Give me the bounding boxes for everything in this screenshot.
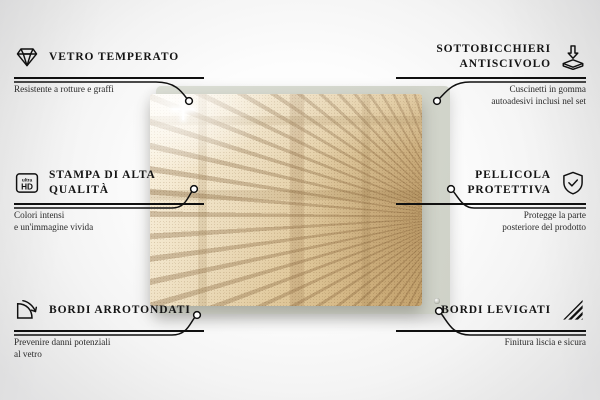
feature-header: SOTTOBICCHIERI ANTISCIVOLO bbox=[396, 40, 586, 74]
feature-description: Finitura liscia e sicura bbox=[396, 336, 586, 348]
feature-divider bbox=[396, 77, 586, 79]
shield-check-icon bbox=[560, 170, 586, 196]
ultra-hd-icon: ultra HD bbox=[14, 170, 40, 196]
hatched-triangle-icon bbox=[560, 297, 586, 323]
feature-title: BORDI LEVIGATI bbox=[441, 303, 551, 318]
feature-divider bbox=[14, 77, 204, 79]
feature-header: PELLICOLA PROTETTIVA bbox=[396, 166, 586, 200]
feature-divider bbox=[14, 330, 204, 332]
feature-title: BORDI ARROTONDATI bbox=[49, 303, 191, 318]
feature-sottobicchieri-antiscivolo: SOTTOBICCHIERI ANTISCIVOLO Cuscinetti in… bbox=[396, 40, 586, 107]
feature-pellicola-protettiva: PELLICOLA PROTETTIVA Protegge la parte p… bbox=[396, 166, 586, 233]
feature-header: VETRO TEMPERATO bbox=[14, 40, 204, 74]
infographic-canvas: VETRO TEMPERATO Resistente a rotture e g… bbox=[0, 0, 600, 400]
feature-divider bbox=[396, 330, 586, 332]
feature-divider bbox=[396, 203, 586, 205]
feature-title: SOTTOBICCHIERI ANTISCIVOLO bbox=[396, 42, 551, 71]
feature-vetro-temperato: VETRO TEMPERATO Resistente a rotture e g… bbox=[14, 40, 204, 95]
feature-description: Colori intensi e un'immagine vivida bbox=[14, 209, 204, 234]
feature-description: Resistente a rotture e graffi bbox=[14, 83, 204, 95]
feature-bordi-arrotondati: BORDI ARROTONDATI Prevenire danni potenz… bbox=[14, 293, 204, 360]
feature-stampa-alta-qualita: ultra HD STAMPA DI ALTA QUALITÀ Colori i… bbox=[14, 166, 204, 233]
feature-description: Cuscinetti in gomma autoadesivi inclusi … bbox=[396, 83, 586, 108]
feature-header: BORDI LEVIGATI bbox=[396, 293, 586, 327]
feature-title: STAMPA DI ALTA QUALITÀ bbox=[49, 168, 204, 197]
feature-description: Prevenire danni potenziali al vetro bbox=[14, 336, 204, 361]
feature-header: ultra HD STAMPA DI ALTA QUALITÀ bbox=[14, 166, 204, 200]
press-pad-icon bbox=[560, 44, 586, 70]
diamond-icon bbox=[14, 44, 40, 70]
feature-title: VETRO TEMPERATO bbox=[49, 50, 179, 65]
feature-description: Protegge la parte posteriore del prodott… bbox=[396, 209, 586, 234]
feature-divider bbox=[14, 203, 204, 205]
feature-bordi-levigati: BORDI LEVIGATI Finitura liscia e sicura bbox=[396, 293, 586, 348]
feature-title: PELLICOLA PROTETTIVA bbox=[396, 168, 551, 197]
rounded-corner-icon bbox=[14, 297, 40, 323]
svg-text:HD: HD bbox=[21, 182, 33, 191]
feature-header: BORDI ARROTONDATI bbox=[14, 293, 204, 327]
